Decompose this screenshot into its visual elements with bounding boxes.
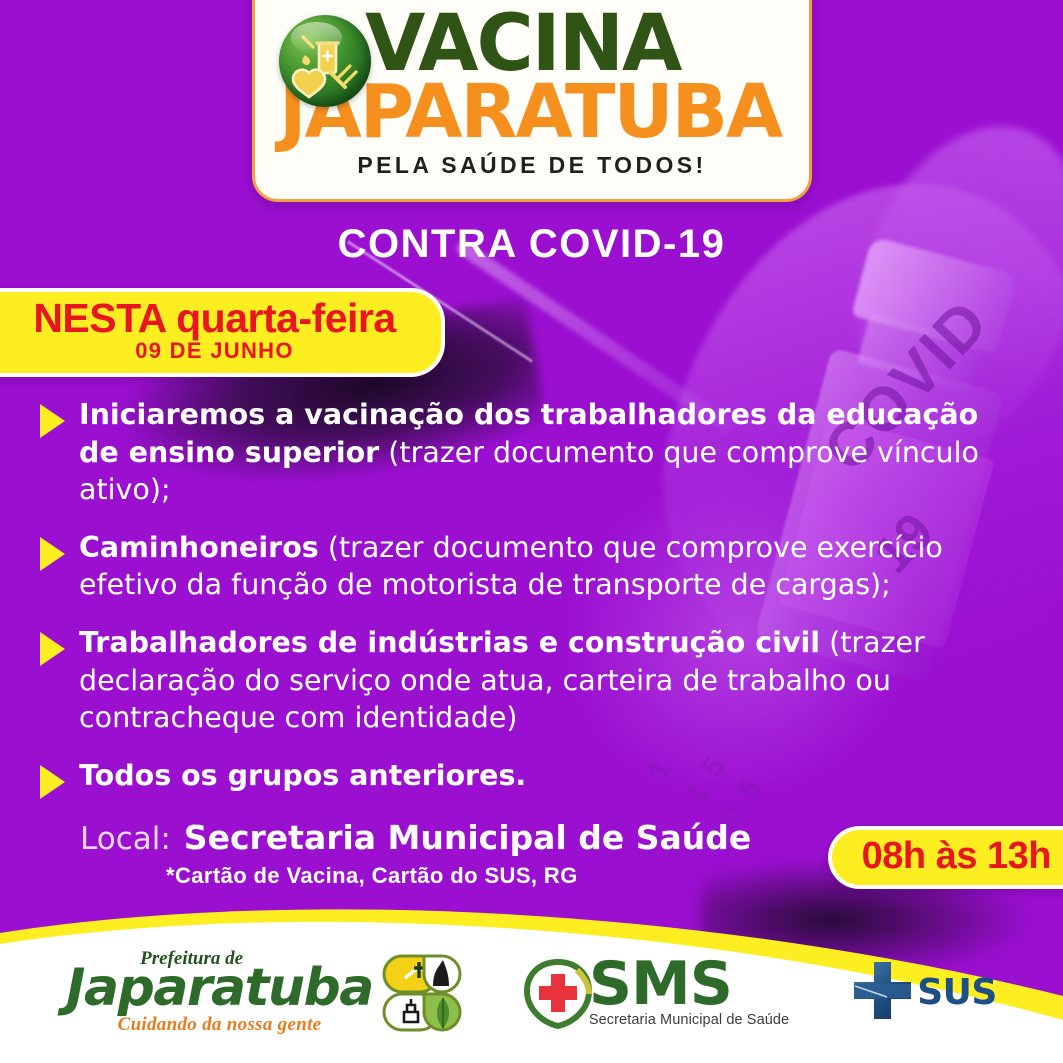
arrow-marker-icon <box>40 765 65 799</box>
location-line: Local: Secretaria Municipal de Saúde <box>80 818 751 857</box>
list-item-bold: Trabalhadores de indústrias e construção… <box>79 626 820 659</box>
campaign-logo-card: VACINA JAPARATUBA PELA SAÚDE DE TODOS! <box>252 0 812 202</box>
prefeitura-text: Prefeitura de Japaratuba Cuidando da nos… <box>66 949 373 1036</box>
page-title: CONTRA COVID-19 <box>0 222 1063 267</box>
location-label: Local: <box>80 821 171 857</box>
list-item-bold: Caminhoneiros <box>79 531 319 564</box>
footer-logos: Prefeitura de Japaratuba Cuidando da nos… <box>0 930 1063 1055</box>
logo-word-vacina: VACINA <box>365 11 781 78</box>
prefeitura-name: Japaratuba <box>66 964 373 1013</box>
sus-logo: SUS <box>847 960 997 1026</box>
list-item-text: Todos os grupos anteriores. <box>79 757 526 795</box>
list-item: Trabalhadores de indústrias e construção… <box>40 624 1025 737</box>
list-item-text: Caminhoneiros (trazer documento que comp… <box>79 529 1025 604</box>
arrow-marker-icon <box>40 632 65 666</box>
list-item-text: Iniciaremos a vacinação dos trabalhadore… <box>79 396 1025 509</box>
location-value: Secretaria Municipal de Saúde <box>184 818 751 857</box>
list-item-bold: Todos os grupos anteriores. <box>79 759 526 792</box>
list-item-text: Trabalhadores de indústrias e construção… <box>79 624 1025 737</box>
sus-acronym: SUS <box>917 972 997 1013</box>
sms-subtitle: Secretaria Municipal de Saúde <box>589 1012 789 1028</box>
arrow-marker-icon <box>40 537 65 571</box>
japaratuba-emblem-icon <box>381 952 463 1034</box>
eligibility-list: Iniciaremos a vacinação dos trabalhadore… <box>40 396 1025 819</box>
date-banner: NESTA quarta-feira 09 DE JUNHO <box>0 288 445 377</box>
list-item: Caminhoneiros (trazer documento que comp… <box>40 529 1025 604</box>
date-banner-sub: 09 DE JUNHO <box>18 338 411 364</box>
sus-cross-icon <box>847 960 919 1026</box>
sms-acronym: SMS <box>589 957 789 1011</box>
wordmark: VACINA JAPARATUBA <box>365 11 781 146</box>
sms-cross-pin-icon <box>521 956 595 1030</box>
list-item: Iniciaremos a vacinação dos trabalhadore… <box>40 396 1025 509</box>
logo-tagline: PELA SAÚDE DE TODOS! <box>255 152 809 179</box>
logo-row: VACINA JAPARATUBA <box>279 11 781 146</box>
arrow-marker-icon <box>40 404 65 438</box>
prefeitura-logo: Prefeitura de Japaratuba Cuidando da nos… <box>66 949 463 1036</box>
sms-text: SMS Secretaria Municipal de Saúde <box>589 957 789 1028</box>
list-item: Todos os grupos anteriores. <box>40 757 1025 799</box>
time-badge-text: 08h às 13h <box>862 835 1051 877</box>
vaccine-syringe-heart-icon <box>279 15 371 107</box>
date-banner-main: NESTA quarta-feira <box>18 298 411 340</box>
sms-logo: SMS Secretaria Municipal de Saúde <box>521 956 789 1030</box>
